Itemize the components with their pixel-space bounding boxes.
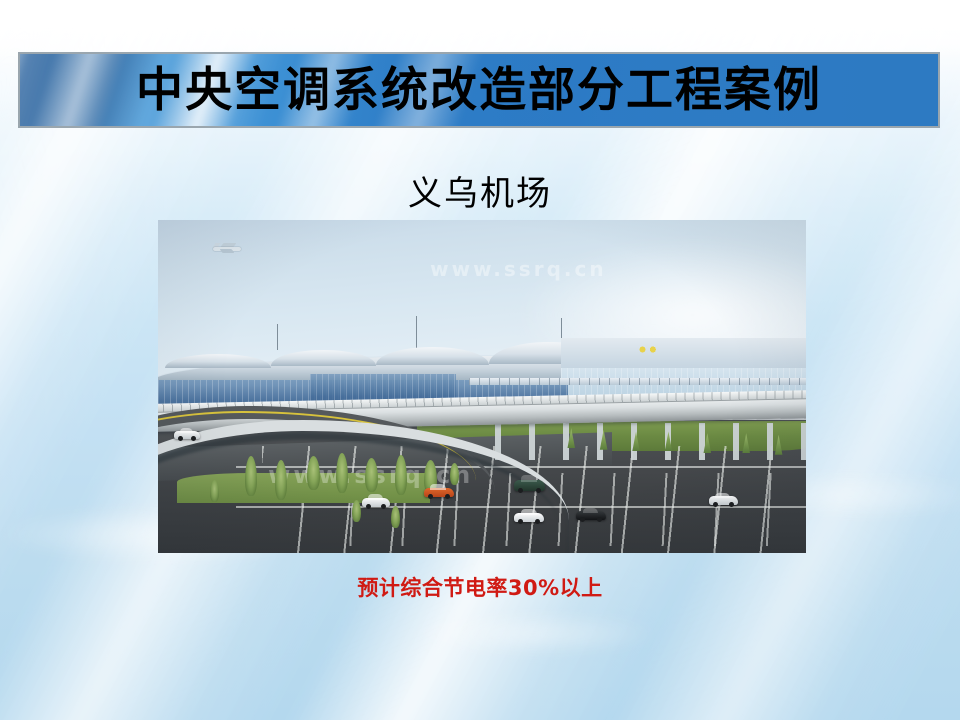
roadside-tree xyxy=(450,463,459,485)
roof-bump-2 xyxy=(271,350,377,366)
car-cabin xyxy=(430,484,446,490)
antenna-mast-1 xyxy=(277,324,278,350)
car-white-lot-center xyxy=(514,513,544,522)
car-orange-lot xyxy=(424,488,454,497)
car-cabin xyxy=(521,475,537,482)
title-banner: 中央空调系统改造部分工程案例 xyxy=(18,52,940,128)
roadside-tree xyxy=(395,455,407,495)
car-cabin xyxy=(583,508,599,514)
car-cabin xyxy=(715,493,730,499)
car-cabin xyxy=(368,494,383,500)
slide-canvas: 中央空调系统改造部分工程案例 义乌机场 www.ssrq.cn xyxy=(0,0,960,720)
roadside-tree xyxy=(210,480,219,502)
car-cabin xyxy=(180,428,194,433)
car-wheel xyxy=(445,494,450,499)
background-top-highlight xyxy=(0,0,960,60)
canopy-ribs xyxy=(469,378,806,385)
slide-subtitle: 义乌机场 xyxy=(0,166,960,215)
page-title: 中央空调系统改造部分工程案例 xyxy=(136,67,822,114)
car-black-lot-right xyxy=(576,511,606,520)
viaduct-piers xyxy=(495,423,806,460)
car-white-lot-far-right xyxy=(709,496,738,505)
car-white-upper-road xyxy=(174,431,200,439)
roof-bump-1 xyxy=(165,354,271,368)
terminal-canopy xyxy=(469,378,806,385)
car-wheel xyxy=(428,494,433,499)
energy-saving-caption: 预计综合节电率30%以上 xyxy=(0,572,960,602)
terminal-logo-icon xyxy=(637,344,659,355)
airplane-icon xyxy=(213,243,243,254)
roadside-tree xyxy=(307,456,320,490)
roadside-tree xyxy=(275,460,287,500)
airplane-wing-lower xyxy=(220,249,235,253)
antenna-mast-2 xyxy=(416,316,417,350)
car-cabin xyxy=(521,509,537,515)
roof-bump-3 xyxy=(376,347,488,365)
car-green-van-lot xyxy=(514,480,545,491)
airport-photo: www.ssrq.cn xyxy=(158,220,806,553)
car-white-lot-left xyxy=(362,498,390,507)
